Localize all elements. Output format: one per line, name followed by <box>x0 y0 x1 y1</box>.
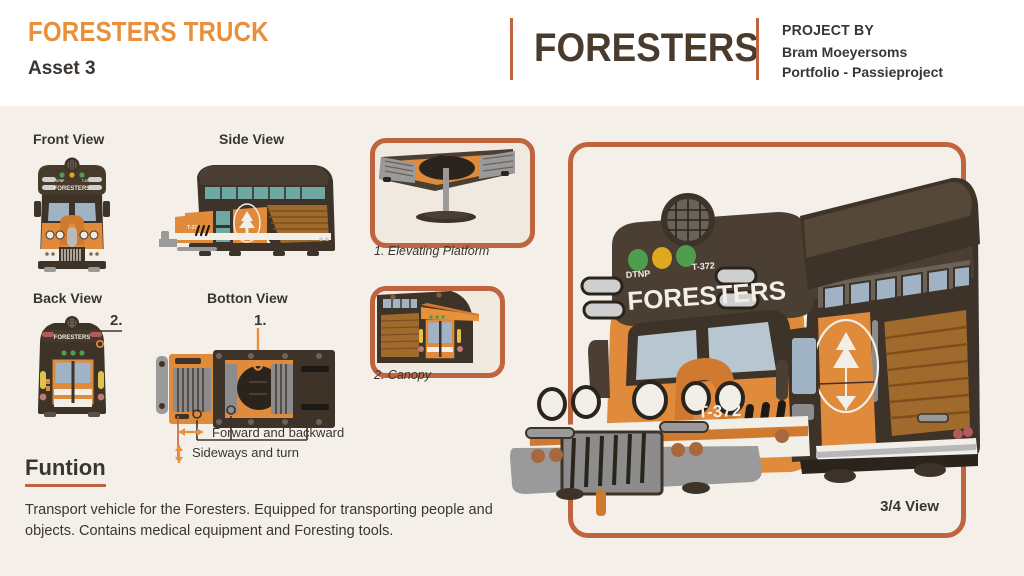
detail-card-one-caption: 1. Elevating Platform <box>374 244 489 258</box>
svg-text:T-372: T-372 <box>691 260 715 272</box>
side-view-label: Side View <box>219 131 284 147</box>
portfolio-line: Portfolio - Passieproject <box>782 62 943 82</box>
front-view-illustration: FORESTERS DTNP T-372 <box>24 157 120 272</box>
legend-forward-backward: Forward and backward <box>212 425 344 440</box>
callout-two-leader-line <box>100 326 124 336</box>
svg-text:DTNP: DTNP <box>625 268 650 280</box>
function-heading: Funtion <box>25 455 106 487</box>
detail-card-canopy <box>370 286 505 378</box>
header-left-block: FORESTERS TRUCK Asset 3 <box>28 18 308 80</box>
project-by-label: PROJECT BY <box>782 20 933 42</box>
header-divider-left <box>510 18 513 80</box>
detail-card-two-caption: 2. Canopy <box>374 368 431 382</box>
brand-wordmark: FORESTERS <box>534 20 759 76</box>
function-description: Transport vehicle for the Foresters. Equ… <box>25 500 495 542</box>
forward-backward-arrow-icon <box>176 425 206 439</box>
header-divider-right <box>756 18 759 80</box>
svg-text:FORESTERS: FORESTERS <box>54 335 91 341</box>
canopy-illustration <box>375 291 490 363</box>
page-title: FORESTERS TRUCK <box>28 18 269 46</box>
three-quarter-view-illustration: FORESTERS DTNP T-372 T-372 <box>500 160 1000 530</box>
front-view-label: Front View <box>33 131 104 147</box>
page-header: FORESTERS TRUCK Asset 3 FORESTERS PROJEC… <box>0 0 1024 106</box>
function-section: Funtion Transport vehicle for the Forest… <box>25 455 505 542</box>
side-view-illustration: T-372 <box>155 155 345 273</box>
asset-subtitle: Asset 3 <box>28 58 308 80</box>
bottom-view-label: Botton View <box>207 290 288 306</box>
svg-text:FORESTERS: FORESTERS <box>54 185 91 192</box>
asset-sheet-page: FORESTERS TRUCK Asset 3 FORESTERS PROJEC… <box>0 0 1024 576</box>
svg-text:T-372: T-372 <box>82 179 90 183</box>
back-view-label: Back View <box>33 290 102 306</box>
elevating-platform-illustration <box>375 143 520 233</box>
svg-text:DTNP: DTNP <box>56 179 66 183</box>
author-name: Bram Moeyersoms <box>782 42 943 62</box>
header-credits: PROJECT BY Bram Moeyersoms Portfolio - P… <box>782 20 943 82</box>
